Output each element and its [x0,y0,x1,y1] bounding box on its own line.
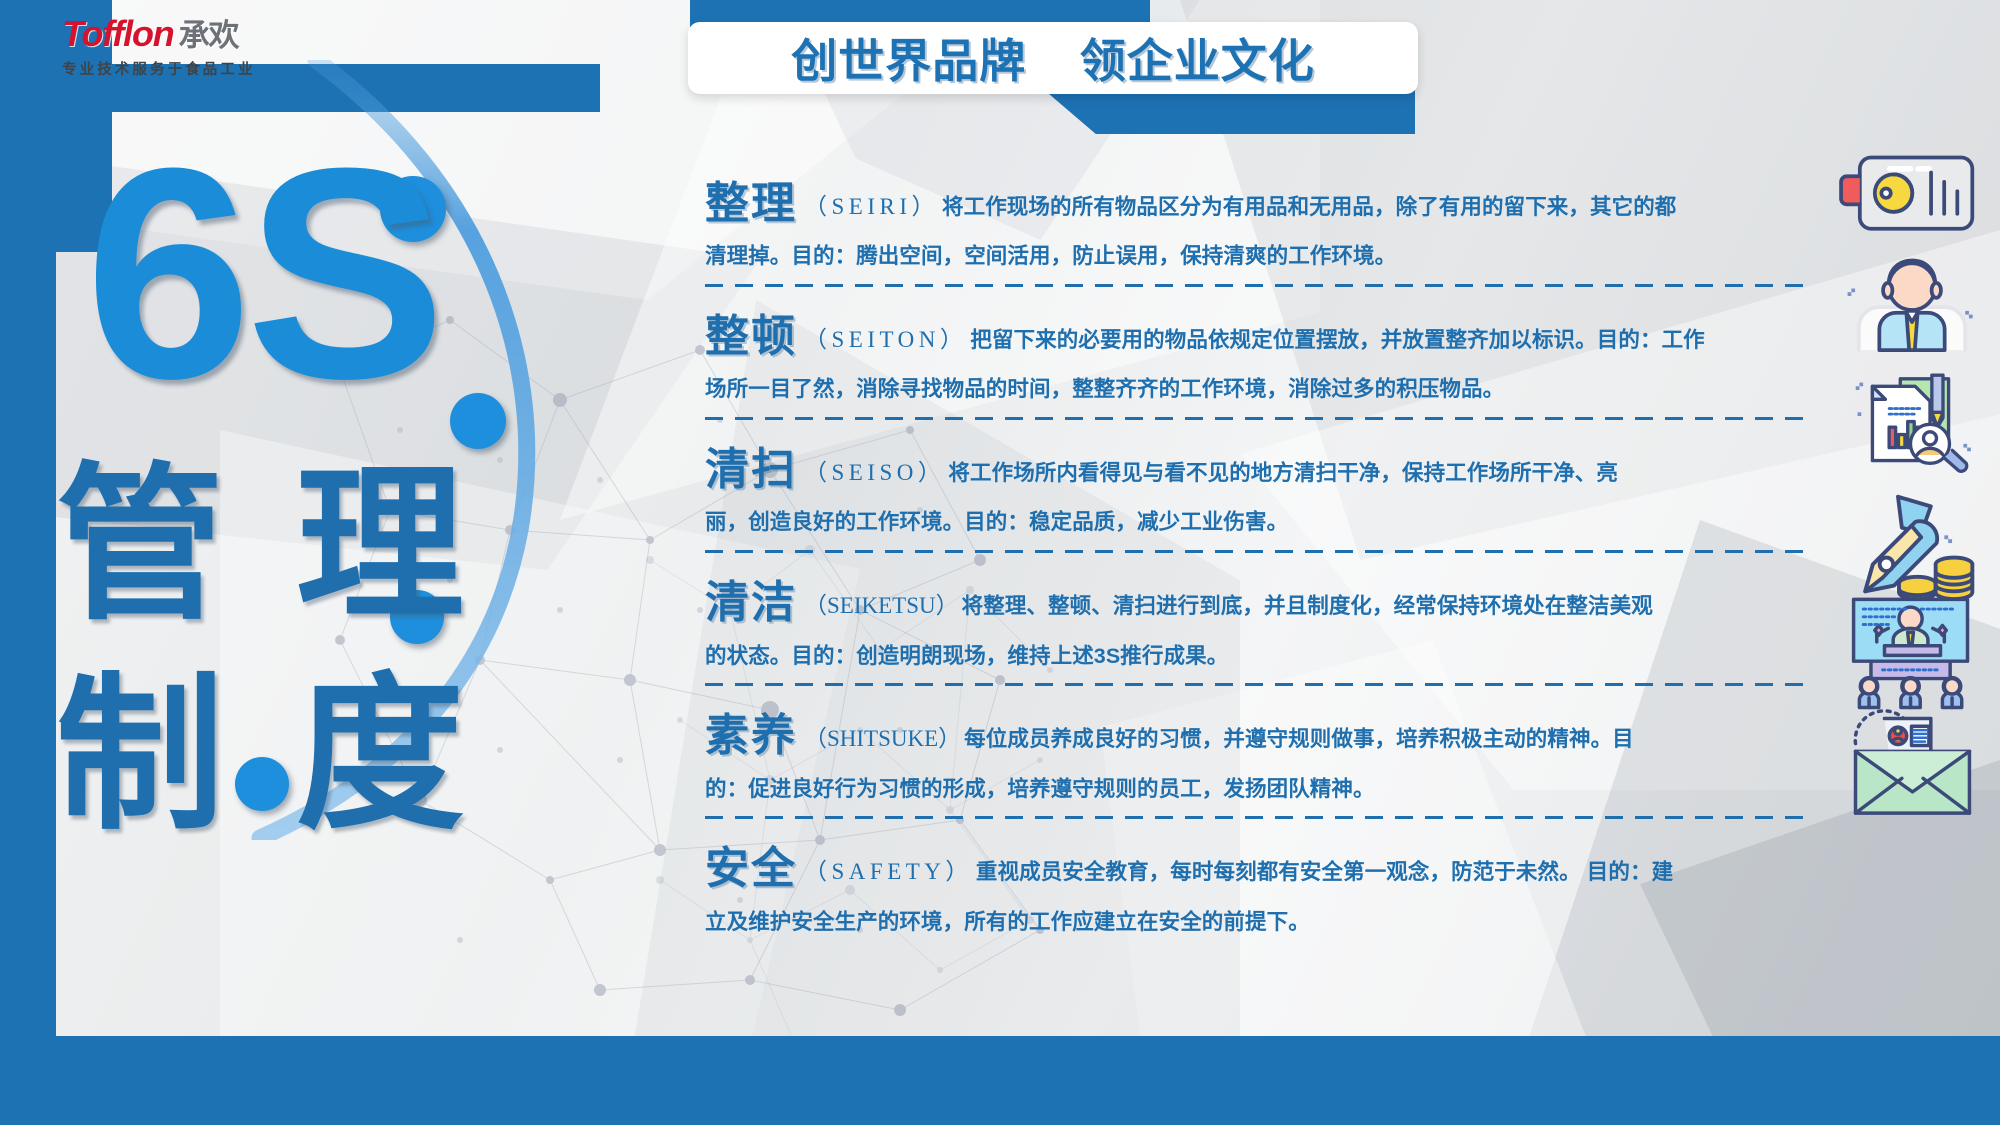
report-magnifier-icon [1852,370,1982,475]
row-keyword: 素养 [705,711,797,760]
pen-coins-icon [1842,490,1982,600]
row-keyword: 清扫 [705,445,797,494]
row-text-line2: 的：促进良好行为习惯的形成，培养遵守规则的员工，发扬团队精神。 [705,772,1805,807]
row-text-line1: 把留下来的必要用的物品依规定位置摆放，并放置整齐加以标识。目的：工作 [970,328,1704,352]
row-text-line2: 清理掉。目的：腾出空间，空间活用，防止误用，保持清爽的工作环境。 [705,239,1805,274]
logo-brand-latin: Tofflon [62,16,174,52]
row-text-line1: 每位成员养成良好的习惯，并遵守规则做事，培养积极主动的精神。目 [964,727,1634,751]
row-text-line2: 丽，创造良好的工作环境。目的：稳定品质，减少工业伤害。 [705,505,1805,540]
hero-block: 6S 管 理 制 度 [0,150,620,870]
header-title-banner: 创世界品牌 领企业文化 [688,22,1418,94]
row-keyword: 安全 [705,844,797,893]
row-romaji: （SEIRI） [804,194,939,219]
row-text-line2: 立及维护安全生产的环境，所有的工作应建立在安全的前提下。 [705,905,1805,940]
list-item: 素养（SHITSUKE）每位成员养成良好的习惯，并遵守规则做事，培养积极主动的精… [705,686,1805,819]
list-item: 整理（SEIRI）将工作现场的所有物品区分为有用品和无用品，除了有用的留下来，其… [705,168,1805,287]
row-romaji: （SEISO） [804,460,945,485]
header-title-left: 创世界品牌 [791,35,1026,87]
hero-6s-title: 6S [85,150,440,396]
presentation-chart-icon [1837,150,1982,240]
row-text-line1: 将整理、整顿、清扫进行到底，并且制度化，经常保持环境处在整洁美观 [962,594,1653,618]
row-text-line1: 将工作现场的所有物品区分为有用品和无用品，除了有用的留下来，其它的都 [942,195,1676,219]
brand-logo: Tofflon 承欢 专业技术服务于食品工业 [62,10,302,72]
list-item: 整顿（SEITON）把留下来的必要用的物品依规定位置摆放，并放置整齐加以标识。目… [705,287,1805,420]
logo-brand-cn: 承欢 [179,10,239,55]
hero-cn-char: 理 [260,440,500,650]
team-person-icon [1842,250,1982,355]
row-keyword: 清洁 [705,578,797,627]
list-item: 清洁（SEIKETSU）将整理、整顿、清扫进行到底，并且制度化，经常保持环境处在… [705,553,1805,686]
row-romaji: （SEIKETSU） [804,593,959,618]
row-text-line2: 的状态。目的：创造明朗现场，维持上述3S推行成果。 [705,639,1805,674]
hero-cn-char: 制 [20,650,260,860]
logo-tagline: 专业技术服务于食品工业 [62,58,302,79]
row-text-line1: 将工作场所内看得见与看不见的地方清扫干净，保持工作场所干净、亮 [948,461,1618,485]
hero-cn-char: 管 [20,440,260,650]
header-title-right: 领企业文化 [1080,35,1315,87]
hero-cn-char: 度 [260,650,500,860]
row-text-line1: 重视成员安全教育，每时每刻都有安全第一观念，防范于未然。 目的：建 [976,860,1673,884]
hero-cn-title: 管 理 制 度 [20,440,500,860]
list-item: 清扫（SEISO）将工作场所内看得见与看不见的地方清扫干净，保持工作场所干净、亮… [705,420,1805,553]
six-s-list: 整理（SEIRI）将工作现场的所有物品区分为有用品和无用品，除了有用的留下来，其… [705,168,1805,953]
list-item: 安全（SAFETY）重视成员安全教育，每时每刻都有安全第一观念，防范于未然。 目… [705,819,1805,952]
row-romaji: （SHITSUKE） [804,726,961,751]
row-romaji: （SAFETY） [804,859,973,884]
presenter-audience-icon [1842,595,1982,710]
row-romaji: （SEITON） [804,327,967,352]
row-keyword: 整顿 [705,312,797,361]
row-keyword: 整理 [705,179,797,228]
row-text-line2: 场所一目了然，消除寻找物品的时间，整整齐齐的工作环境，消除过多的积压物品。 [705,372,1805,407]
poster-canvas: Tofflon 承欢 专业技术服务于食品工业 创世界品牌 领企业文化 6S 管 … [0,0,2000,1125]
envelope-document-icon [1842,700,1982,820]
